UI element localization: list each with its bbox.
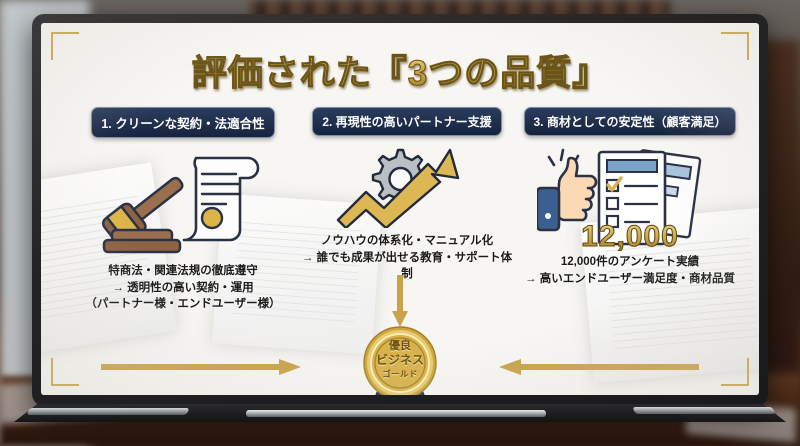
medal-line-3: ゴールド xyxy=(356,368,444,380)
survey-count-number: 12,000 xyxy=(509,220,751,254)
stand-hinge-right xyxy=(632,407,775,414)
quality-column-2: 2. 再現性の高いパートナー支援 ノウハウの体系化・マニュアル化 → 誰でも xyxy=(299,107,515,283)
caption-line: 12,000件のアンケート実績 xyxy=(509,254,751,271)
gold-certification-medal: 優良 ビジネス ゴールド xyxy=(356,323,444,395)
stand-hinge-center xyxy=(246,410,546,417)
quality-badge-1: 1. クリーンな契約・法適合性 xyxy=(91,107,274,138)
stand-hinge-left xyxy=(26,408,189,415)
screenshot-stage: 評価された『3つの品質』 1. クリーンな契約・法適合性 xyxy=(0,0,800,446)
gavel-document-icon xyxy=(65,146,301,263)
slide-title: 評価された『3つの品質』 xyxy=(41,45,759,96)
quality-badge-2: 2. 再現性の高いパートナー支援 xyxy=(312,107,501,136)
medal-line-1: 優良 xyxy=(356,340,444,352)
arrow-right-icon xyxy=(101,359,301,380)
quality-caption-1: 特商法・関連法規の徹底遵守 → 透明性の高い契約・運用 （パートナー様・エンドユ… xyxy=(65,263,301,313)
corner-bracket-bottom-right xyxy=(721,358,749,386)
caption-line: （パートナー様・エンドユーザー様） xyxy=(65,296,301,313)
presentation-slide: 評価された『3つの品質』 1. クリーンな契約・法適合性 xyxy=(41,23,759,395)
quality-column-1: 1. クリーンな契約・法適合性 xyxy=(65,107,301,313)
gear-growth-arrow-icon xyxy=(299,144,515,233)
caption-line: → 高いエンドユーザー満足度・商材品質 xyxy=(509,271,751,288)
monitor-frame: 評価された『3つの品質』 1. クリーンな契約・法適合性 xyxy=(32,14,768,406)
caption-line: → 透明性の高い契約・運用 xyxy=(65,280,301,297)
medal-line-2: ビジネス xyxy=(356,353,444,367)
quality-caption-3: 12,000件のアンケート実績 → 高いエンドユーザー満足度・商材品質 xyxy=(509,254,751,287)
caption-line: ノウハウの体系化・マニュアル化 xyxy=(299,233,515,250)
thumbs-up-survey-icon: 12,000 xyxy=(509,144,751,250)
arrow-left-icon xyxy=(499,359,699,380)
caption-line: 特商法・関連法規の徹底遵守 xyxy=(65,263,301,280)
quality-column-3: 3. 商材としての安定性（顧客満足） xyxy=(509,107,751,287)
quality-badge-3: 3. 商材としての安定性（顧客満足） xyxy=(524,107,737,136)
corner-bracket-bottom-left xyxy=(51,358,79,386)
